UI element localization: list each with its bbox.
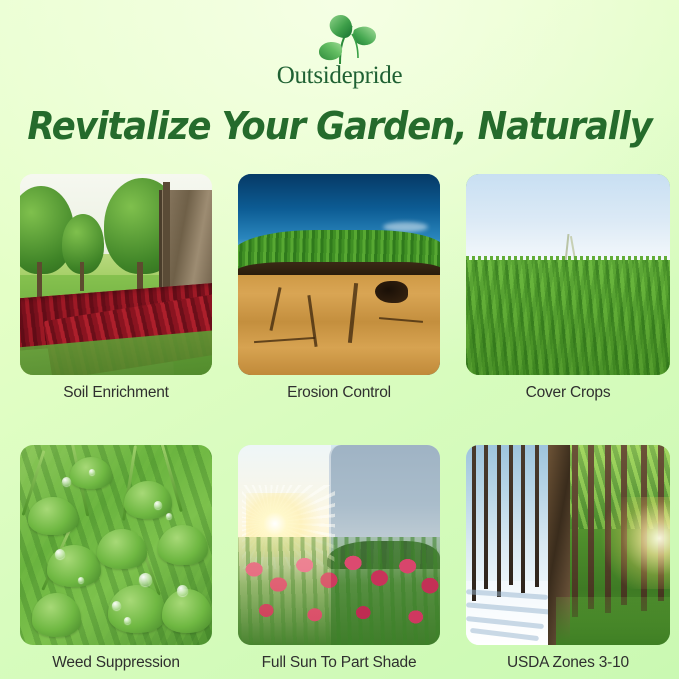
feature-caption: Soil Enrichment [20,384,212,402]
brand-wordmark: Outsidepride [0,62,679,90]
feature-image-weed-suppression [20,445,212,645]
feature-caption: Weed Suppression [20,654,212,672]
feature-card-full-sun-to-part-shade: Full Sun To Part Shade [238,445,440,672]
feature-image-cover-crops [466,174,670,375]
feature-grid: Soil Enrichment Erosion Control [20,174,660,672]
page-title: Revitalize Your Garden, Naturally [24,104,655,148]
feature-card-cover-crops: Cover Crops [466,174,670,402]
feature-image-usda-zones [466,445,670,645]
feature-image-soil-enrichment [20,174,212,375]
brand-logo: Outsidepride [0,10,679,90]
feature-image-full-sun-to-part-shade [238,445,440,645]
feature-caption: Erosion Control [238,384,440,402]
feature-image-erosion-control [238,174,440,375]
leaf-sprout-icon [294,10,386,66]
feature-card-erosion-control: Erosion Control [238,174,440,402]
feature-card-usda-zones: USDA Zones 3-10 [466,445,670,672]
promo-infographic: Outsidepride Revitalize Your Garden, Nat… [0,0,679,679]
feature-card-weed-suppression: Weed Suppression [20,445,212,672]
feature-card-soil-enrichment: Soil Enrichment [20,174,212,402]
feature-caption: Full Sun To Part Shade [238,654,440,672]
feature-caption: USDA Zones 3-10 [466,654,670,672]
feature-caption: Cover Crops [466,384,670,402]
